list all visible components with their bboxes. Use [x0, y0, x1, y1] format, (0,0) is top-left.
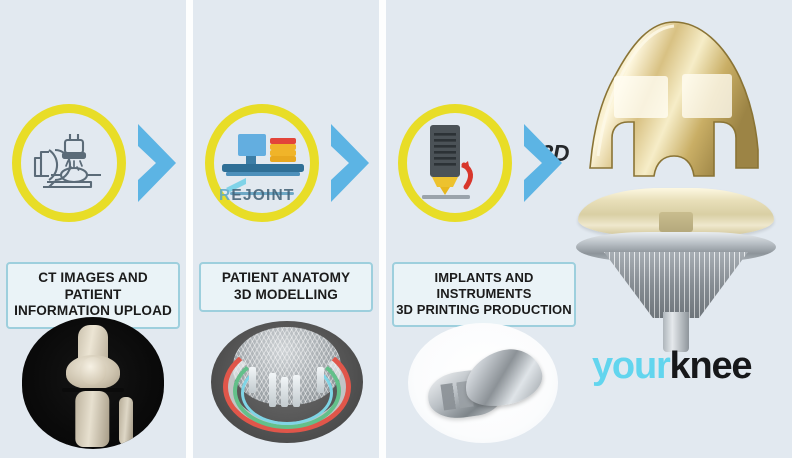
- metal-implant-image: [408, 323, 558, 443]
- brand-logo: yourknee: [592, 347, 751, 385]
- mesh-pin-5: [317, 367, 324, 393]
- workflow-infographic: CT IMAGES AND PATIENT INFORMATION UPLOAD: [0, 0, 792, 458]
- gold-femoral-component: [574, 16, 778, 186]
- tibia-shape: [75, 391, 109, 447]
- rejoint-initial: R: [219, 187, 231, 204]
- 3d-mesh-model-photo: [203, 315, 369, 451]
- step1-icon-row: [0, 104, 186, 222]
- patella-shape: [80, 357, 107, 385]
- ct-scan-image: [22, 317, 164, 449]
- column-divider-2: [379, 0, 386, 458]
- ct-scanner-icon: [12, 104, 126, 222]
- mesh-pin-1: [269, 373, 276, 407]
- stem-fluted-cone: [604, 252, 748, 318]
- gold-tibial-insert: [578, 188, 774, 236]
- rejoint-rest: EJOINT: [231, 187, 294, 204]
- step-3d-printing[interactable]: 3D IMPLANTS AND INSTRUMENTS 3D PRINTING …: [386, 0, 582, 458]
- column-divider-1: [186, 0, 193, 458]
- step-ct-upload[interactable]: CT IMAGES AND PATIENT INFORMATION UPLOAD: [0, 0, 186, 458]
- brand-your: your: [592, 345, 670, 387]
- mesh-pin-2: [281, 377, 288, 407]
- step3-icon-row: 3D: [386, 104, 582, 222]
- step-anatomy-modelling[interactable]: REJOINT PATIENT ANATOMY 3D MODELLING: [193, 0, 379, 458]
- 3d-printer-icon: [398, 104, 512, 222]
- metal-implant-photo: [396, 315, 572, 451]
- rejoint-logo-text: REJOINT: [219, 187, 295, 205]
- mesh-pin-3: [293, 375, 300, 407]
- steel-tibial-stem: [576, 232, 776, 328]
- ct-knee-scan-photo: [10, 315, 176, 451]
- step2-caption: PATIENT ANATOMY 3D MODELLING: [199, 262, 373, 312]
- step2-caption-line1: PATIENT ANATOMY: [203, 270, 369, 287]
- fibula-shape: [119, 397, 133, 445]
- implant-cluster: [560, 0, 792, 320]
- step1-caption-line1: CT IMAGES AND PATIENT: [10, 270, 176, 303]
- step2-caption-line2: 3D MODELLING: [203, 287, 369, 304]
- step3-caption-line1: IMPLANTS AND INSTRUMENTS: [396, 270, 572, 302]
- mesh-pin-4: [249, 367, 256, 393]
- mesh-model-image: [211, 321, 363, 443]
- brand-knee: knee: [670, 345, 752, 387]
- step2-icon-row: REJOINT: [193, 104, 379, 222]
- chevron-arrow-2: [329, 118, 373, 208]
- chevron-arrow-1: [136, 118, 180, 208]
